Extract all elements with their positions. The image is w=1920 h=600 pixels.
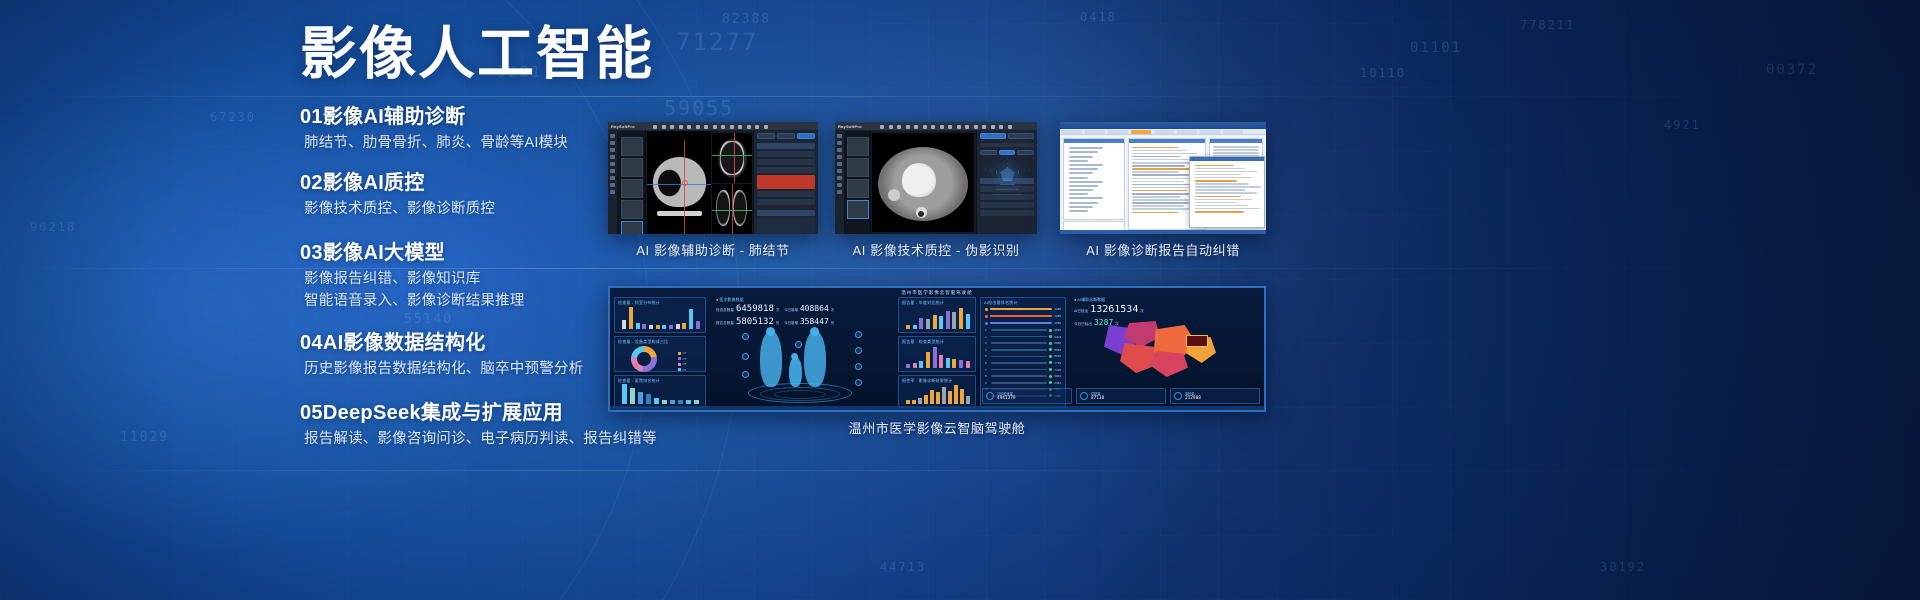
card-title: 阳性率 - 影像诊断结果统计 xyxy=(902,378,952,384)
screenshot-quality-control[interactable]: RaySoftPro xyxy=(835,122,1037,234)
dashboard-card-bar-4: 报告量 - 检查类型统计 xyxy=(898,336,976,372)
chart-bar xyxy=(933,315,937,329)
chart-bar xyxy=(954,385,958,404)
kpi-label-5: 今日已检出 xyxy=(1074,322,1092,327)
chart-bar xyxy=(966,314,970,329)
kpi-value-1: 408864 xyxy=(800,304,829,313)
screenshot-report-correction[interactable] xyxy=(1060,122,1266,234)
kpi-value-2: 5805132 xyxy=(736,317,774,327)
chart-bar xyxy=(933,347,937,368)
chart-bar xyxy=(946,358,950,369)
radar-chart xyxy=(985,153,1030,195)
chart-bar xyxy=(930,390,934,404)
chart-bar xyxy=(913,325,917,329)
chart-bar xyxy=(906,364,910,368)
chart-bar xyxy=(906,325,910,329)
dashboard-footer-kpi: 门诊检查量 4941379 xyxy=(982,388,1072,404)
feature-title-03: 03影像AI大模型 xyxy=(300,238,720,268)
feature-item-02: 02影像AI质控 影像技术质控、影像诊断质控 xyxy=(300,168,720,220)
feature-desc-01: 肺结节、肋骨骨折、肺炎、骨龄等AI模块 xyxy=(300,132,720,154)
finding-alert-row xyxy=(757,175,815,189)
hologram-figure xyxy=(742,327,862,405)
screenshot-gallery: RaySoftPro xyxy=(600,118,1900,558)
kpi-group-label: ● 医学影像数据 xyxy=(716,297,744,303)
viewer-logo-2: RaySoftPro xyxy=(838,124,862,129)
kpi-value-0: 6459818 xyxy=(736,304,774,314)
kpi-unit-0: 次 xyxy=(776,307,779,312)
feature-desc-05: 报告解读、影像咨询问诊、电子病历判读、报告纠错等 xyxy=(300,428,720,450)
card-title: 报告量 - 检查类型统计 xyxy=(902,339,944,345)
chart-bar xyxy=(939,316,943,329)
chart-bar xyxy=(926,352,930,368)
chart-bar xyxy=(919,318,923,329)
kpi-value-4: 13261534 xyxy=(1090,304,1138,315)
kpi-value-3: 358447 xyxy=(800,317,829,326)
region-map xyxy=(1098,319,1238,377)
dashboard-card-combo: 阳性率 - 影像诊断结果统计 xyxy=(898,375,976,408)
kpi-label-1: 今日新增 xyxy=(784,307,798,312)
chart-bar xyxy=(948,391,952,404)
caption-report-correction: AI 影像诊断报告自动纠错 xyxy=(1052,240,1274,259)
content-column: 影像人工智能 01影像AI辅助诊断 肺结节、肋骨骨折、肺炎、骨龄等AI模块 02… xyxy=(300,24,720,460)
kpi-label-3: 今日新增 xyxy=(784,320,798,325)
correction-dialog[interactable] xyxy=(1189,156,1265,228)
card-title: AI检出量排名统计 xyxy=(984,300,1018,306)
page-title: 影像人工智能 xyxy=(300,24,720,86)
feature-item-05: 05DeepSeek集成与扩展应用 报告解读、影像咨询问诊、电子病历判读、报告纠… xyxy=(300,398,720,450)
feature-item-04: 04AI影像数据结构化 历史影像报告数据结构化、脑卒中预警分析 xyxy=(300,328,720,380)
chart-bar xyxy=(919,361,923,368)
chart-bar xyxy=(913,363,917,368)
kpi-unit-2: 份 xyxy=(776,320,779,325)
feature-desc-04: 历史影像报告数据结构化、脑卒中预警分析 xyxy=(300,358,720,380)
chart-bar xyxy=(952,359,956,368)
feature-title-01: 01影像AI辅助诊断 xyxy=(300,102,720,132)
chart-bar xyxy=(942,387,946,404)
chart-bar xyxy=(966,361,970,368)
chart-bar xyxy=(926,319,930,329)
chart-bar xyxy=(939,355,943,368)
dashboard-footer-kpi: 住院量 87138 xyxy=(1076,388,1166,404)
dashboard-card-bar-3: 报告量 - 年度对比统计 xyxy=(898,297,976,333)
kpi-label-4: AI已检出 xyxy=(1074,309,1088,314)
feature-title-02: 02影像AI质控 xyxy=(300,168,720,198)
feature-title-05: 05DeepSeek集成与扩展应用 xyxy=(300,398,720,428)
kpi-unit-1: 次 xyxy=(831,307,834,312)
caption-quality-control: AI 影像技术质控 - 伪影识别 xyxy=(822,240,1050,259)
dashboard-center: ● 医学影像数据 检查总数量 6459818 次 今日新增 408864 次 报… xyxy=(712,297,892,409)
kpi-group-label: ● AI辅助诊断数据 xyxy=(1074,297,1105,303)
feature-desc-03-line1: 影像报告纠错、影像知识库 xyxy=(300,268,720,290)
chart-bar xyxy=(924,395,928,405)
feature-item-03: 03影像AI大模型 影像报告纠错、影像知识库 智能语音录入、影像诊断结果推理 xyxy=(300,238,720,312)
chart-bar xyxy=(952,312,956,329)
feature-item-01: 01影像AI辅助诊断 肺结节、肋骨骨折、肺炎、骨龄等AI模块 xyxy=(300,102,720,154)
chart-bar xyxy=(959,360,963,368)
chart-bar xyxy=(912,400,916,404)
dashboard-footer-kpi: 体检量 212988 xyxy=(1170,388,1260,404)
chart-bar xyxy=(906,400,910,404)
chart-bar xyxy=(946,311,950,329)
chart-bar xyxy=(936,392,940,404)
chart-bar xyxy=(966,396,970,404)
chart-bar xyxy=(918,398,922,404)
kpi-unit-4: 次 xyxy=(1140,308,1143,313)
card-title: 报告量 - 年度对比统计 xyxy=(902,300,944,306)
feature-desc-02: 影像技术质控、影像诊断质控 xyxy=(300,198,720,220)
dashboard-map-area: ● AI辅助诊断数据 AI已检出 13261534 次 今日已检出 3287 次 xyxy=(1072,297,1260,377)
chart-bar xyxy=(959,308,963,329)
kpi-unit-3: 份 xyxy=(831,320,834,325)
feature-title-04: 04AI影像数据结构化 xyxy=(300,328,720,358)
feature-desc-03-line2: 智能语音录入、影像诊断结果推理 xyxy=(300,290,720,312)
chart-bar xyxy=(960,389,964,404)
